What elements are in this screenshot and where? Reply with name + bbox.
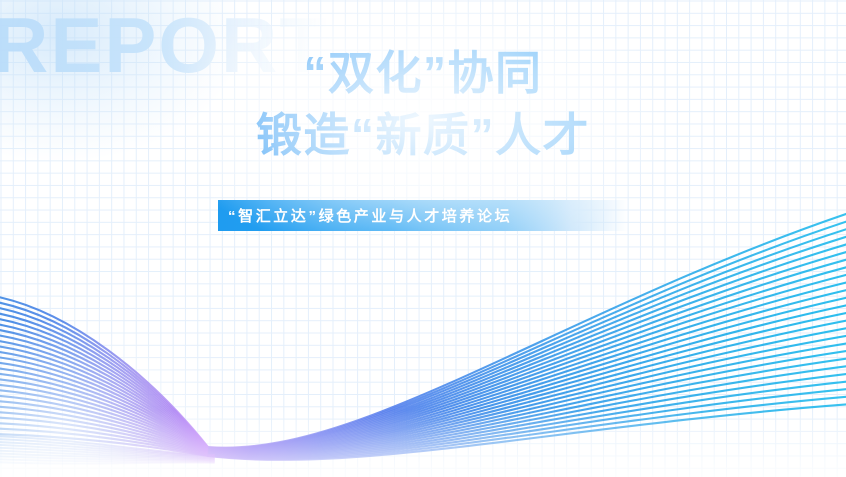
headline-group: “双化”协同 锻造“新质”人才 (0, 46, 846, 163)
poster-canvas: REPORT “双化”协同 锻造“新质”人才 “智汇立达”绿色产业与人才培养论坛 (0, 0, 846, 477)
headline-line-1: “双化”协同 (0, 46, 846, 100)
subtitle-band: “智汇立达”绿色产业与人才培养论坛 (218, 200, 628, 231)
headline-line-2: 锻造“新质”人才 (0, 108, 846, 162)
subtitle-text: “智汇立达”绿色产业与人才培养论坛 (218, 205, 512, 226)
